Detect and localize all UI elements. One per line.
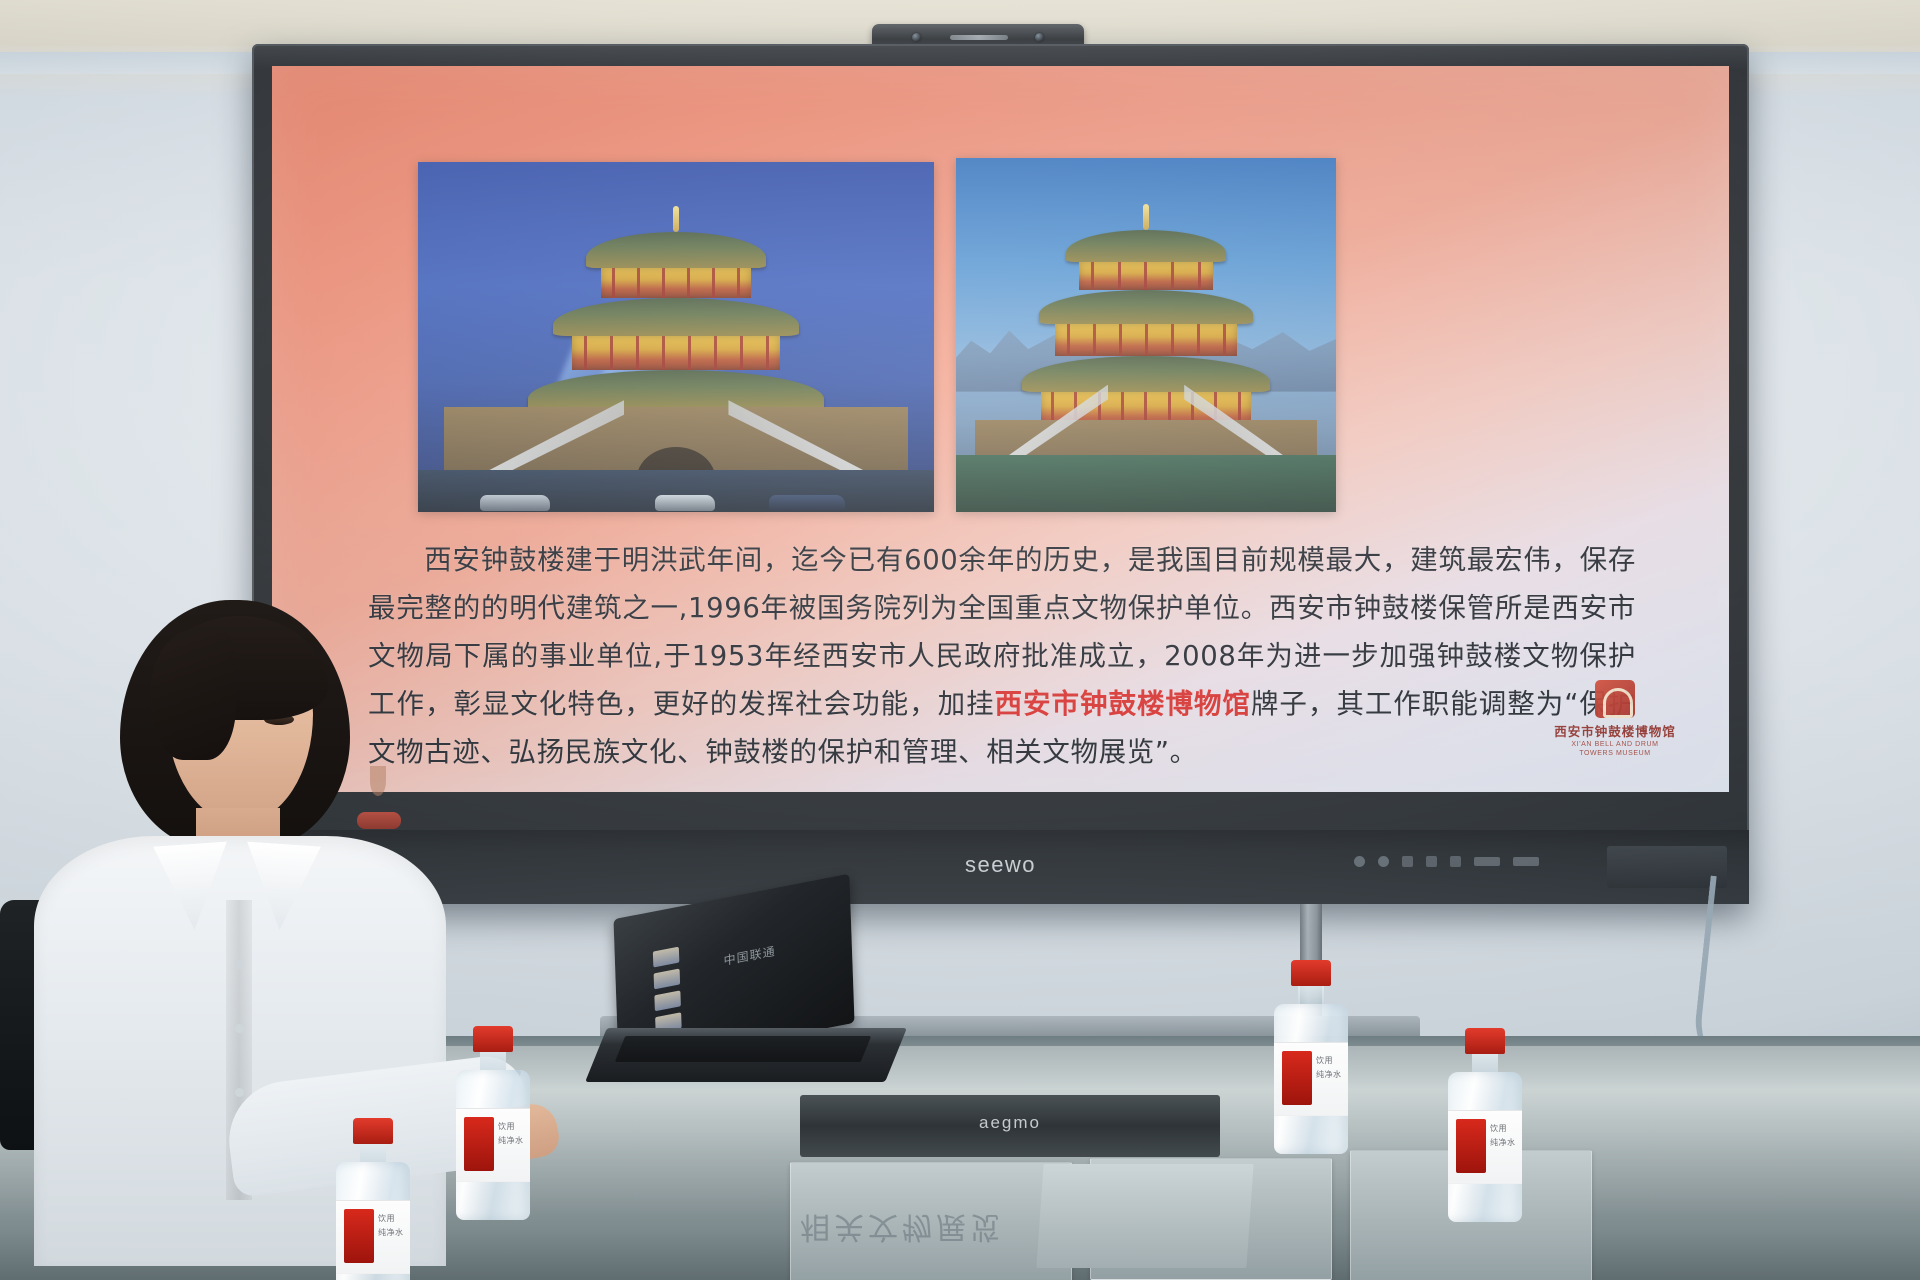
roof-tier-1 bbox=[1066, 230, 1226, 262]
bottle-label-text-1: 饮用 bbox=[1490, 1123, 1507, 1134]
water-bottle[interactable]: 饮用 纯净水 bbox=[1274, 960, 1348, 1154]
roof-tier-2 bbox=[553, 298, 799, 336]
table-av-unit[interactable]: aegmo bbox=[800, 1095, 1220, 1157]
column-row bbox=[572, 336, 780, 370]
bottle-neck bbox=[480, 1052, 506, 1070]
av-unit-brand-label: aegmo bbox=[979, 1113, 1041, 1133]
museum-logo-cn: 西安市钟鼓楼博物馆 bbox=[1554, 721, 1676, 740]
bottle-label-text-1: 饮用 bbox=[378, 1213, 395, 1224]
bottle-body: 饮用 纯净水 bbox=[1274, 1004, 1348, 1154]
car bbox=[655, 495, 715, 511]
slide-text-highlight: 西安市钟鼓楼博物馆 bbox=[995, 688, 1251, 720]
bottle-label-text-2: 纯净水 bbox=[1490, 1137, 1516, 1148]
water-bottle[interactable]: 饮用 纯净水 bbox=[1448, 1028, 1522, 1222]
slide-image-drum-tower bbox=[956, 158, 1336, 512]
laptop[interactable]: 中国联通 bbox=[596, 896, 906, 1096]
laptop-keyboard[interactable] bbox=[615, 1036, 872, 1062]
bottle-label: 饮用 纯净水 bbox=[456, 1108, 530, 1182]
laptop-stickers bbox=[653, 947, 682, 1034]
column-row bbox=[601, 268, 751, 298]
bottle-label-accent bbox=[344, 1209, 374, 1263]
nose bbox=[370, 766, 386, 796]
interactive-flat-panel[interactable]: 西安钟鼓楼建于明洪武年间，迄今已有600余年的历史，是我国目前规模最大，建筑最宏… bbox=[252, 44, 1749, 904]
bottle-label: 饮用 纯净水 bbox=[336, 1200, 410, 1274]
bottle-label: 饮用 纯净水 bbox=[1274, 1042, 1348, 1116]
bottle-body: 饮用 纯净水 bbox=[456, 1070, 530, 1220]
bottle-neck bbox=[1298, 986, 1324, 1004]
meeting-room: 西安钟鼓楼建于明洪武年间，迄今已有600余年的历史，是我国目前规模最大，建筑最宏… bbox=[0, 0, 1920, 1280]
bottle-label-text-2: 纯净水 bbox=[1316, 1069, 1342, 1080]
display-bezel: 西安钟鼓楼建于明洪武年间，迄今已有600余年的历史，是我国目前规模最大，建筑最宏… bbox=[252, 44, 1749, 904]
port-usb-icon[interactable] bbox=[1378, 856, 1389, 867]
port-lan-icon[interactable] bbox=[1474, 857, 1500, 866]
bottle-neck bbox=[1472, 1054, 1498, 1072]
bottle-neck bbox=[360, 1144, 386, 1162]
camera-mic-strip bbox=[950, 35, 1008, 40]
display-io-ports[interactable] bbox=[1354, 856, 1539, 867]
column-row bbox=[1055, 324, 1237, 356]
shirt-button bbox=[235, 1088, 244, 1097]
museum-logo: 西安市钟鼓楼博物馆 XI'AN BELL AND DRUM TOWERS MUS… bbox=[1541, 680, 1689, 758]
drum-tower-illustration bbox=[1021, 204, 1271, 434]
slide-body-text: 西安钟鼓楼建于明洪武年间，迄今已有600余年的历史，是我国目前规模最大，建筑最宏… bbox=[368, 536, 1636, 776]
document-on-table[interactable] bbox=[1036, 1164, 1253, 1268]
shirt-button bbox=[235, 960, 244, 969]
mouth bbox=[357, 812, 401, 829]
roof-tier-1 bbox=[586, 232, 766, 268]
camera-lens-right-icon bbox=[1035, 33, 1044, 42]
bottle-cap bbox=[1291, 960, 1331, 986]
roof-finial bbox=[673, 206, 679, 232]
roof-tier-2 bbox=[1039, 290, 1253, 324]
museum-logo-en-1: XI'AN BELL AND DRUM bbox=[1571, 740, 1658, 749]
port-hdmi-icon[interactable] bbox=[1402, 856, 1413, 867]
museum-mark-icon bbox=[1595, 680, 1635, 718]
slide-image-bell-tower bbox=[418, 162, 934, 512]
roof-tier-3 bbox=[528, 370, 824, 410]
port-usb-icon[interactable] bbox=[1354, 856, 1365, 867]
car bbox=[769, 495, 845, 511]
bottle-label-text-1: 饮用 bbox=[1316, 1055, 1333, 1066]
roof-finial bbox=[1143, 204, 1149, 230]
laptop-lid-logo: 中国联通 bbox=[723, 942, 776, 969]
shirt-button bbox=[235, 1024, 244, 1033]
bottle-label-accent bbox=[464, 1117, 494, 1171]
body-tier-1 bbox=[601, 268, 751, 298]
water-bottle[interactable]: 饮用 纯净水 bbox=[336, 1118, 410, 1280]
display-bottom-bezel: seewo bbox=[252, 830, 1749, 904]
port-vga-icon[interactable] bbox=[1513, 857, 1539, 866]
body-tier-2 bbox=[572, 336, 780, 370]
bottle-label-text-1: 饮用 bbox=[498, 1121, 515, 1132]
bottle-label-text-2: 纯净水 bbox=[498, 1135, 524, 1146]
bottle-label: 饮用 纯净水 bbox=[1448, 1110, 1522, 1184]
street-foreground bbox=[418, 470, 934, 512]
museum-logo-en-2: TOWERS MUSEUM bbox=[1579, 749, 1650, 758]
bottle-cap bbox=[1465, 1028, 1505, 1054]
bottle-label-accent bbox=[1456, 1119, 1486, 1173]
port-hdmi-icon[interactable] bbox=[1426, 856, 1437, 867]
car bbox=[480, 495, 550, 511]
bottle-body: 饮用 纯净水 bbox=[1448, 1072, 1522, 1222]
bottle-label-text-2: 纯净水 bbox=[378, 1227, 404, 1238]
body-tier-1 bbox=[1079, 262, 1213, 290]
hair-side-sweep bbox=[150, 630, 236, 760]
plaza-foreground bbox=[956, 455, 1336, 512]
roof-tier-3 bbox=[1022, 356, 1270, 392]
display-brand-label: seewo bbox=[965, 852, 1036, 878]
bottle-cap bbox=[473, 1026, 513, 1052]
water-bottle[interactable]: 饮用 纯净水 bbox=[456, 1026, 530, 1220]
bottle-cap bbox=[353, 1118, 393, 1144]
port-audio-icon[interactable] bbox=[1450, 856, 1461, 867]
body-tier-2 bbox=[1055, 324, 1237, 356]
camera-lens-left-icon bbox=[912, 33, 921, 42]
presentation-screen[interactable]: 西安钟鼓楼建于明洪武年间，迄今已有600余年的历史，是我国目前规模最大，建筑最宏… bbox=[272, 66, 1729, 792]
bottle-body: 饮用 纯净水 bbox=[336, 1162, 410, 1280]
column-row bbox=[1079, 262, 1213, 290]
bottle-label-accent bbox=[1282, 1051, 1312, 1105]
